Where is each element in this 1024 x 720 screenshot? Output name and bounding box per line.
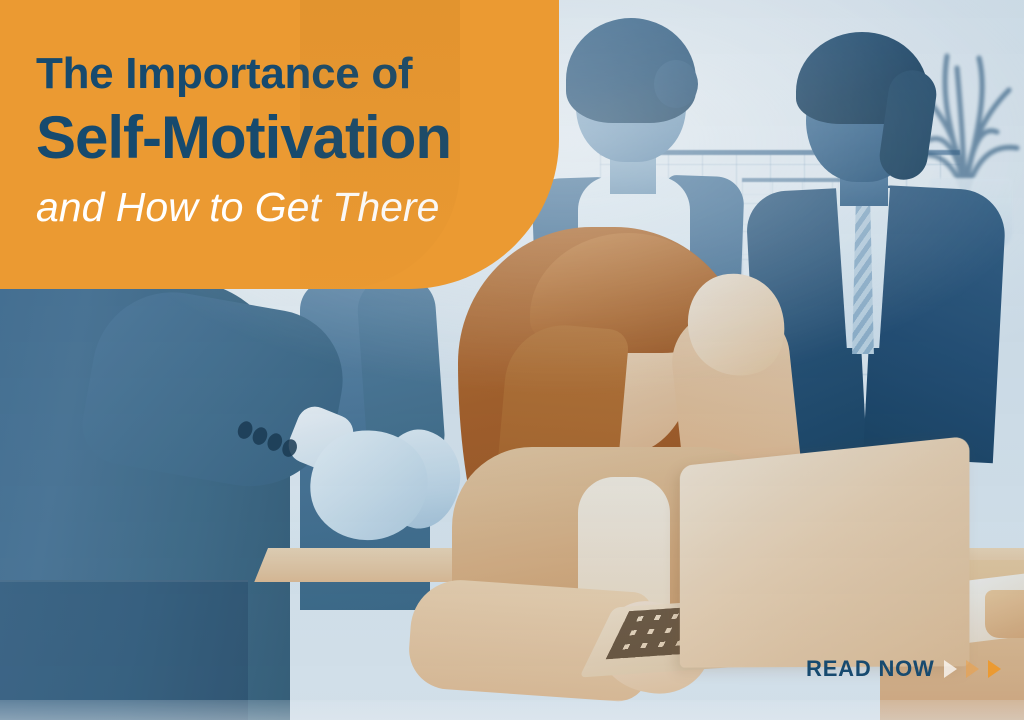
blog-banner: The Importance of Self-Motivation and Ho… [0,0,1024,720]
read-now-button[interactable]: READ NOW [806,656,1001,682]
headline-line-1: The Importance of [36,48,536,100]
headline-line-3: and How to Get There [36,183,536,232]
mug [985,590,1024,638]
chevron-right-icon-mid [966,660,979,678]
headline-line-2: Self-Motivation [36,104,536,171]
chevron-right-icon-orange [988,660,1001,678]
orange-title-panel: The Importance of Self-Motivation and Ho… [0,0,559,289]
laptop-screen [680,436,970,668]
headline-block: The Importance of Self-Motivation and Ho… [36,48,536,232]
read-now-label: READ NOW [806,656,935,682]
chevron-right-icon-pale [944,660,957,678]
desk-front-edge [0,700,1024,720]
